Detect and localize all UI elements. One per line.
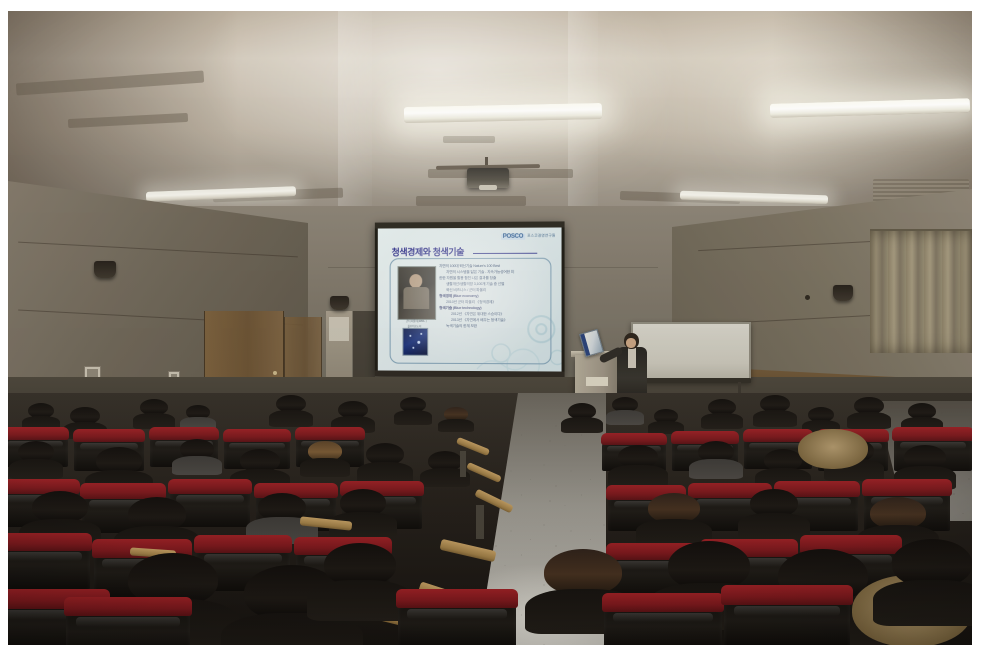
audience-member [28,403,54,429]
photo-frame: POSCO 포스코경영연구원 청색경제와 청색기술 군터 파울리(1956~ )… [0,0,986,660]
slide-body-text: 자연의 100대 혁신기술 Nature's 100 Best자연의 시스템을 … [439,264,543,330]
audience-member [568,403,596,431]
audience-member [618,445,658,485]
presentation-slide: POSCO 포스코경영연구원 청색경제와 청색기술 군터 파울리(1956~ )… [378,227,562,371]
projector-lens [479,185,497,190]
slide-photo-caption: 군터 파울리(1956~ ) [395,319,439,323]
seat-armrest[interactable] [466,462,502,483]
audience-member [400,397,426,423]
audience-member [698,441,734,477]
audience-member [750,489,798,537]
slide-line: 녹색기술의 한계 보완 [439,324,543,330]
armrest-post [476,505,484,539]
audience-member [654,409,678,433]
audience-member [18,441,54,477]
audience-member [276,395,306,425]
auditorium-seat[interactable] [724,585,850,645]
auditorium-seat[interactable] [8,533,90,589]
wall-speaker [330,296,349,310]
audience-member [366,443,404,481]
wall-fixture [805,295,810,300]
lecture-hall-photo: POSCO 포스코경영연구원 청색경제와 청색기술 군터 파울리(1956~ )… [8,11,972,645]
audience-member [892,539,972,621]
slide-title-rule [473,253,537,254]
projection-screen[interactable]: POSCO 포스코경영연구원 청색경제와 청색기술 군터 파울리(1956~ )… [375,221,565,377]
slide-portrait-photo [398,266,437,320]
auditorium-seat[interactable] [398,589,516,645]
fur-hood-coat [798,429,868,469]
logo-text: 포스코경영연구원 [527,234,555,239]
audience-member [854,397,884,427]
ceiling-vent [443,136,495,143]
wall-speaker [833,285,853,301]
audience-member [258,493,306,541]
audience-member [648,493,700,545]
presenter-shirt [628,348,636,368]
audience-member [708,399,736,427]
audience-member [180,439,214,473]
auditorium-seat[interactable] [66,597,190,645]
audience-member [186,405,210,429]
logo-mark: POSCO [501,233,525,239]
armrest-post [460,451,466,477]
presenter-face [626,338,636,348]
whiteboard[interactable] [631,322,751,382]
slide-title: 청색경제와 청색기술 [392,245,464,258]
audience-member [612,397,638,423]
window-curtain[interactable] [870,231,972,353]
auditorium-seat[interactable] [604,593,722,645]
wall-speaker [94,261,116,278]
seat-armrest[interactable] [439,539,496,562]
lectern-sign [586,377,608,386]
audience-member [760,395,790,425]
audience-member [444,407,468,431]
slide-logo: POSCO 포스코경영연구원 [501,232,556,241]
ceiling-beam [338,11,372,211]
av-panel[interactable] [329,317,349,341]
audience-member [324,543,396,617]
audience-member [308,441,342,475]
audience-member [428,451,462,485]
ceiling-vent [416,196,526,206]
slide-book-cover [402,328,428,356]
audience-area [8,393,972,645]
audience-member [140,399,168,427]
